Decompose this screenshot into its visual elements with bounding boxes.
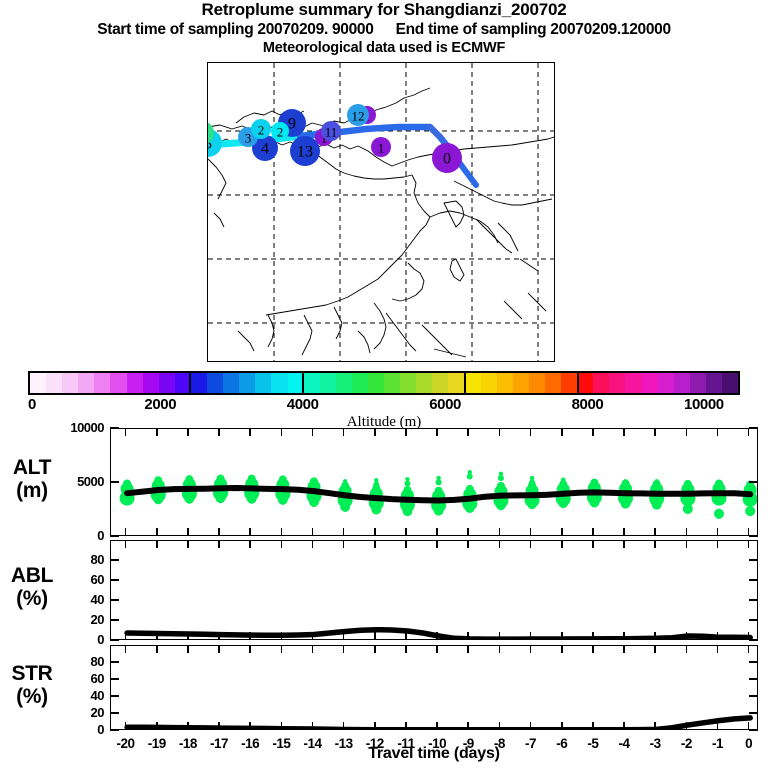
alt-scatter-point bbox=[498, 471, 502, 475]
x-tick-mark bbox=[156, 645, 158, 653]
x-tick-mark bbox=[748, 428, 750, 436]
y-tick-label: 20 bbox=[60, 705, 104, 720]
alt-scatter-point bbox=[467, 469, 471, 473]
colorbar-swatch bbox=[239, 373, 255, 393]
x-tick-mark bbox=[467, 632, 469, 640]
x-tick-mark bbox=[623, 632, 625, 640]
x-tick-mark bbox=[561, 528, 563, 536]
trend-line-str bbox=[127, 717, 750, 729]
x-tick-mark bbox=[686, 645, 688, 653]
x-tick-mark bbox=[623, 528, 625, 536]
x-tick-mark bbox=[218, 428, 220, 436]
y-tick-mark bbox=[110, 639, 119, 641]
x-tick-mark bbox=[654, 632, 656, 640]
x-tick-mark bbox=[343, 528, 345, 536]
x-tick-mark bbox=[654, 540, 656, 548]
x-tick-mark bbox=[374, 722, 376, 730]
alt-scatter-point bbox=[685, 485, 689, 489]
colorbar-swatch bbox=[368, 373, 384, 393]
map-marker-label: 2 bbox=[258, 123, 265, 138]
alt-scatter-point bbox=[124, 480, 128, 484]
x-tick-mark bbox=[156, 528, 158, 536]
x-tick-mark bbox=[748, 632, 750, 640]
x-tick-mark bbox=[125, 632, 127, 640]
alt-scatter-point bbox=[591, 482, 597, 488]
y-tick-mark bbox=[749, 481, 758, 483]
x-tick-mark bbox=[374, 645, 376, 653]
colorbar-tick-label: 6000 bbox=[429, 396, 461, 413]
colorbar-segment-divider bbox=[302, 371, 304, 395]
x-tick-mark bbox=[654, 645, 656, 653]
alt-scatter-point bbox=[529, 475, 533, 479]
colorbar-swatch bbox=[191, 373, 207, 393]
map-graticule bbox=[208, 63, 554, 361]
alt-scatter-point bbox=[653, 502, 660, 509]
y-tick-mark bbox=[110, 427, 119, 429]
x-tick-mark bbox=[343, 540, 345, 548]
colorbar-swatch bbox=[432, 373, 448, 393]
x-tick-mark bbox=[436, 528, 438, 536]
x-tick-mark bbox=[623, 645, 625, 653]
alt-scatter-point bbox=[185, 496, 192, 503]
colorbar-swatch bbox=[642, 373, 658, 393]
x-tick-mark bbox=[249, 528, 251, 536]
x-tick-mark bbox=[686, 528, 688, 536]
colorbar-tick-label: 8000 bbox=[572, 396, 604, 413]
panel-alt[interactable] bbox=[110, 428, 758, 536]
panel-label-name: ABL bbox=[0, 564, 64, 587]
x-tick-mark bbox=[374, 428, 376, 436]
alt-scatter-point bbox=[403, 485, 411, 493]
alt-scatter-point bbox=[436, 475, 440, 479]
alt-scatter-point bbox=[715, 511, 722, 518]
map-marker-label: 2 bbox=[277, 125, 284, 140]
x-tick-mark bbox=[561, 540, 563, 548]
panel-label-str: STR(%) bbox=[0, 662, 64, 708]
colorbar-gradient bbox=[28, 371, 740, 395]
x-tick-mark bbox=[405, 540, 407, 548]
colorbar-swatch bbox=[722, 373, 738, 393]
y-tick-mark bbox=[749, 579, 758, 581]
x-tick-mark bbox=[717, 645, 719, 653]
x-tick-mark bbox=[499, 632, 501, 640]
x-tick-mark bbox=[187, 722, 189, 730]
alt-scatter-point bbox=[746, 509, 753, 516]
x-tick-mark bbox=[405, 428, 407, 436]
alt-scatter-point bbox=[529, 479, 535, 485]
map-marker-label: 3 bbox=[245, 131, 252, 146]
x-tick-mark bbox=[374, 540, 376, 548]
alt-scatter-point bbox=[684, 507, 691, 514]
x-tick-mark bbox=[748, 528, 750, 536]
x-tick-mark bbox=[187, 528, 189, 536]
x-tick-mark bbox=[592, 528, 594, 536]
y-tick-mark bbox=[749, 619, 758, 621]
alt-scatter-point bbox=[434, 486, 442, 494]
colorbar-tick-label: 10000 bbox=[684, 396, 724, 413]
colorbar-swatch bbox=[529, 373, 545, 393]
alt-scatter-point bbox=[592, 478, 596, 482]
x-tick-mark bbox=[499, 528, 501, 536]
y-tick-label: 40 bbox=[60, 688, 104, 703]
colorbar-swatch bbox=[497, 373, 513, 393]
colorbar-swatch bbox=[255, 373, 271, 393]
x-tick-mark bbox=[467, 540, 469, 548]
alt-scatter-point bbox=[623, 479, 627, 483]
x-tick-mark bbox=[374, 632, 376, 640]
x-tick-mark bbox=[312, 528, 314, 536]
alt-scatter-point bbox=[404, 480, 410, 486]
x-tick-mark bbox=[717, 540, 719, 548]
y-tick-mark bbox=[110, 559, 119, 561]
alt-scatter-point bbox=[622, 482, 628, 488]
x-tick-mark bbox=[218, 645, 220, 653]
x-tick-mark bbox=[343, 645, 345, 653]
x-tick-mark bbox=[499, 540, 501, 548]
x-tick-mark bbox=[436, 428, 438, 436]
retroplume-map[interactable]: 011111312491132256432 bbox=[207, 62, 555, 362]
x-tick-mark bbox=[125, 528, 127, 536]
x-tick-mark bbox=[623, 540, 625, 548]
alt-scatter-point bbox=[156, 479, 160, 483]
colorbar-tick-label: 2000 bbox=[144, 396, 176, 413]
colorbar-swatch bbox=[400, 373, 416, 393]
x-tick-mark bbox=[125, 428, 127, 436]
colorbar-swatch bbox=[513, 373, 529, 393]
y-tick-mark bbox=[110, 579, 119, 581]
y-tick-mark bbox=[110, 481, 119, 483]
colorbar-swatch bbox=[304, 373, 320, 393]
x-tick-mark bbox=[561, 645, 563, 653]
colorbar-swatch bbox=[94, 373, 110, 393]
alt-scatter-point bbox=[372, 507, 379, 514]
x-tick-mark bbox=[467, 645, 469, 653]
x-tick-mark bbox=[249, 722, 251, 730]
alt-scatter-point bbox=[561, 477, 565, 481]
alt-scatter-point bbox=[466, 473, 472, 479]
y-tick-label: 80 bbox=[60, 552, 104, 567]
x-tick-mark bbox=[748, 645, 750, 653]
sampling-time-line: Start time of sampling 20070209. 90000En… bbox=[0, 20, 768, 39]
y-tick-mark bbox=[110, 678, 119, 680]
alt-scatter-point bbox=[654, 479, 658, 483]
x-tick-mark bbox=[748, 722, 750, 730]
x-tick-mark bbox=[343, 632, 345, 640]
map-marker-label: 11 bbox=[325, 125, 338, 140]
y-tick-label: 20 bbox=[60, 612, 104, 627]
alt-scatter-point bbox=[496, 481, 504, 489]
map-marker-label: 4 bbox=[261, 141, 269, 158]
x-tick-mark bbox=[592, 632, 594, 640]
alt-scatter-point bbox=[218, 477, 222, 481]
x-tick-mark bbox=[623, 722, 625, 730]
alt-scatter-point bbox=[528, 502, 535, 509]
x-tick-mark bbox=[530, 645, 532, 653]
x-tick-mark bbox=[654, 528, 656, 536]
map-marker-label: 12 bbox=[352, 109, 365, 124]
y-tick-mark bbox=[749, 599, 758, 601]
x-tick-mark bbox=[592, 645, 594, 653]
alt-scatter-point bbox=[747, 485, 751, 489]
x-tick-mark bbox=[281, 632, 283, 640]
x-tick-mark bbox=[249, 645, 251, 653]
x-tick-mark bbox=[125, 722, 127, 730]
y-tick-label: 0 bbox=[60, 528, 104, 543]
x-tick-mark bbox=[312, 645, 314, 653]
panel-label-unit: (%) bbox=[0, 685, 64, 708]
x-tick-mark bbox=[592, 540, 594, 548]
x-tick-mark bbox=[467, 428, 469, 436]
colorbar-tick-labels: 0200040006000800010000 bbox=[16, 396, 752, 416]
x-tick-mark bbox=[530, 428, 532, 436]
x-tick-mark bbox=[156, 540, 158, 548]
colorbar-swatch bbox=[336, 373, 352, 393]
x-tick-mark bbox=[187, 428, 189, 436]
alt-scatter-point bbox=[590, 500, 597, 507]
map-marker-label: 1 bbox=[378, 141, 385, 156]
colorbar-swatch bbox=[384, 373, 400, 393]
alt-scatter-point bbox=[497, 475, 503, 481]
x-tick-mark bbox=[717, 528, 719, 536]
panel-data-alt bbox=[113, 431, 758, 536]
alt-scatter-point bbox=[311, 480, 315, 484]
panel-label-name: ALT bbox=[0, 456, 64, 479]
met-data-label: Meteorological data used is ECMWF bbox=[0, 39, 768, 57]
x-tick-mark bbox=[592, 722, 594, 730]
y-tick-mark bbox=[749, 695, 758, 697]
x-tick-mark bbox=[686, 632, 688, 640]
alt-scatter-point bbox=[405, 476, 409, 480]
x-tick-mark bbox=[187, 632, 189, 640]
alt-scatter-point bbox=[280, 479, 284, 483]
colorbar-swatch bbox=[658, 373, 674, 393]
x-tick-mark bbox=[561, 722, 563, 730]
colorbar-swatch bbox=[110, 373, 126, 393]
panel-label-abl: ABL(%) bbox=[0, 564, 64, 610]
alt-scatter-point bbox=[342, 479, 346, 483]
x-tick-mark bbox=[218, 632, 220, 640]
colorbar-swatch bbox=[352, 373, 368, 393]
trend-line-abl bbox=[127, 629, 750, 638]
colorbar-swatch bbox=[561, 373, 577, 393]
colorbar-swatch bbox=[416, 373, 432, 393]
panel-data-str bbox=[113, 648, 758, 730]
x-tick-mark bbox=[405, 528, 407, 536]
y-tick-mark bbox=[749, 427, 758, 429]
x-tick-mark bbox=[654, 428, 656, 436]
alt-scatter-point bbox=[310, 499, 317, 506]
x-axis-title: Travel time (days) bbox=[110, 745, 758, 763]
alt-scatter-point bbox=[622, 501, 629, 508]
colorbar-segment-divider bbox=[189, 371, 191, 395]
colorbar-tick-label: 0 bbox=[28, 396, 36, 413]
x-tick-mark bbox=[467, 722, 469, 730]
colorbar-swatch bbox=[545, 373, 561, 393]
x-tick-mark bbox=[436, 722, 438, 730]
alt-scatter-point bbox=[435, 508, 442, 515]
x-tick-mark bbox=[374, 528, 376, 536]
colorbar-swatch bbox=[609, 373, 625, 393]
y-tick-mark bbox=[110, 535, 119, 537]
x-tick-mark bbox=[436, 632, 438, 640]
colorbar-swatch bbox=[46, 373, 62, 393]
x-tick-mark bbox=[623, 428, 625, 436]
map-graphic: 011111312491132256432 bbox=[208, 63, 554, 361]
alt-scatter-point bbox=[653, 482, 659, 488]
alt-scatter-point bbox=[342, 482, 348, 488]
x-tick-mark bbox=[312, 540, 314, 548]
colorbar-segment-divider bbox=[577, 371, 579, 395]
alt-scatter-point bbox=[123, 498, 130, 505]
x-tick-mark bbox=[312, 428, 314, 436]
x-tick-mark bbox=[218, 540, 220, 548]
alt-scatter-point bbox=[403, 509, 410, 516]
y-tick-label: 60 bbox=[60, 671, 104, 686]
y-tick-mark bbox=[110, 599, 119, 601]
alt-scatter-point bbox=[187, 478, 191, 482]
x-tick-mark bbox=[249, 540, 251, 548]
x-tick-mark bbox=[499, 722, 501, 730]
panel-label-name: STR bbox=[0, 662, 64, 685]
x-tick-mark bbox=[249, 428, 251, 436]
y-tick-label: 0 bbox=[60, 722, 104, 737]
map-marker-label: 9 bbox=[288, 116, 296, 133]
y-tick-label: 5000 bbox=[60, 474, 104, 489]
x-tick-mark bbox=[717, 428, 719, 436]
x-tick-mark bbox=[405, 632, 407, 640]
x-tick-mark bbox=[530, 632, 532, 640]
x-tick-mark bbox=[467, 528, 469, 536]
y-tick-mark bbox=[110, 729, 119, 731]
x-tick-mark bbox=[499, 645, 501, 653]
y-tick-mark bbox=[749, 559, 758, 561]
y-tick-label: 60 bbox=[60, 572, 104, 587]
x-tick-mark bbox=[748, 540, 750, 548]
end-time-label: End time of sampling 20070209.120000 bbox=[396, 21, 671, 38]
colorbar-swatch bbox=[223, 373, 239, 393]
x-tick-mark bbox=[281, 722, 283, 730]
x-tick-mark bbox=[686, 722, 688, 730]
map-marker-label: 13 bbox=[297, 144, 313, 161]
colorbar-swatch bbox=[448, 373, 464, 393]
y-tick-label: 10000 bbox=[60, 420, 104, 435]
page-title: Retroplume summary for Shangdianzi_20070… bbox=[0, 0, 768, 20]
colorbar-swatch bbox=[674, 373, 690, 393]
x-tick-mark bbox=[561, 428, 563, 436]
x-tick-mark bbox=[530, 528, 532, 536]
x-tick-mark bbox=[156, 632, 158, 640]
alt-scatter-point bbox=[154, 497, 161, 504]
colorbar-swatch bbox=[625, 373, 641, 393]
x-tick-mark bbox=[187, 540, 189, 548]
panel-abl[interactable] bbox=[110, 540, 758, 640]
panel-str[interactable] bbox=[110, 645, 758, 730]
x-tick-mark bbox=[312, 722, 314, 730]
trajectory-markers: 011111312491132256432 bbox=[208, 104, 462, 173]
x-tick-mark bbox=[436, 645, 438, 653]
x-tick-mark bbox=[281, 540, 283, 548]
x-tick-mark bbox=[530, 540, 532, 548]
y-tick-mark bbox=[749, 661, 758, 663]
x-tick-mark bbox=[343, 428, 345, 436]
alt-scatter-point bbox=[249, 478, 253, 482]
colorbar-swatch bbox=[207, 373, 223, 393]
alt-scatter-point bbox=[124, 483, 130, 489]
x-tick-mark bbox=[281, 528, 283, 536]
x-tick-mark bbox=[312, 632, 314, 640]
colorbar-segment-divider bbox=[464, 371, 466, 395]
y-tick-mark bbox=[749, 535, 758, 537]
x-tick-mark bbox=[717, 722, 719, 730]
x-tick-mark bbox=[218, 722, 220, 730]
y-tick-mark bbox=[749, 639, 758, 641]
y-tick-label: 0 bbox=[60, 632, 104, 647]
alt-scatter-point bbox=[560, 481, 566, 487]
colorbar-swatch bbox=[593, 373, 609, 393]
x-tick-mark bbox=[281, 428, 283, 436]
map-marker-label: 0 bbox=[443, 151, 451, 168]
y-tick-label: 40 bbox=[60, 592, 104, 607]
x-tick-mark bbox=[249, 632, 251, 640]
colorbar-tick-label: 4000 bbox=[287, 396, 319, 413]
y-tick-label: 80 bbox=[60, 654, 104, 669]
x-tick-mark bbox=[187, 645, 189, 653]
alt-scatter-point bbox=[341, 504, 348, 511]
colorbar-swatch bbox=[62, 373, 78, 393]
colorbar-swatch bbox=[577, 373, 593, 393]
x-tick-mark bbox=[218, 528, 220, 536]
colorbar-swatch bbox=[127, 373, 143, 393]
colorbar-swatch bbox=[690, 373, 706, 393]
x-tick-mark bbox=[686, 540, 688, 548]
title-block: Retroplume summary for Shangdianzi_20070… bbox=[0, 0, 768, 57]
y-tick-mark bbox=[110, 619, 119, 621]
alt-scatter-point bbox=[373, 481, 379, 487]
alt-scatter-point bbox=[466, 505, 473, 512]
x-tick-mark bbox=[156, 428, 158, 436]
colorbar-swatch bbox=[465, 373, 481, 393]
x-tick-mark bbox=[592, 428, 594, 436]
alt-scatter-point bbox=[715, 479, 723, 487]
colorbar-swatch bbox=[143, 373, 159, 393]
alt-scatter-point bbox=[559, 501, 566, 508]
panel-label-alt: ALT(m) bbox=[0, 456, 64, 502]
alt-scatter-point bbox=[435, 479, 441, 485]
panel-label-unit: (m) bbox=[0, 479, 64, 502]
alt-scatter-point bbox=[279, 497, 286, 504]
colorbar-swatch bbox=[78, 373, 94, 393]
x-tick-mark bbox=[125, 540, 127, 548]
panel-data-abl bbox=[113, 543, 758, 640]
altitude-colorbar: 0200040006000800010000 Altitude (m) bbox=[28, 371, 740, 395]
alt-scatter-point bbox=[248, 496, 255, 503]
x-tick-mark bbox=[125, 645, 127, 653]
x-tick-mark bbox=[156, 722, 158, 730]
y-tick-mark bbox=[110, 661, 119, 663]
y-tick-mark bbox=[110, 712, 119, 714]
start-time-label: Start time of sampling 20070209. 90000 bbox=[97, 21, 373, 38]
x-tick-mark bbox=[343, 722, 345, 730]
x-tick-mark bbox=[405, 645, 407, 653]
alt-scatter-point bbox=[217, 496, 224, 503]
alt-scatter-point bbox=[497, 503, 504, 510]
x-tick-mark bbox=[499, 428, 501, 436]
y-tick-mark bbox=[110, 695, 119, 697]
y-tick-mark bbox=[749, 678, 758, 680]
x-tick-mark bbox=[405, 722, 407, 730]
y-tick-mark bbox=[749, 729, 758, 731]
colorbar-swatch bbox=[30, 373, 46, 393]
